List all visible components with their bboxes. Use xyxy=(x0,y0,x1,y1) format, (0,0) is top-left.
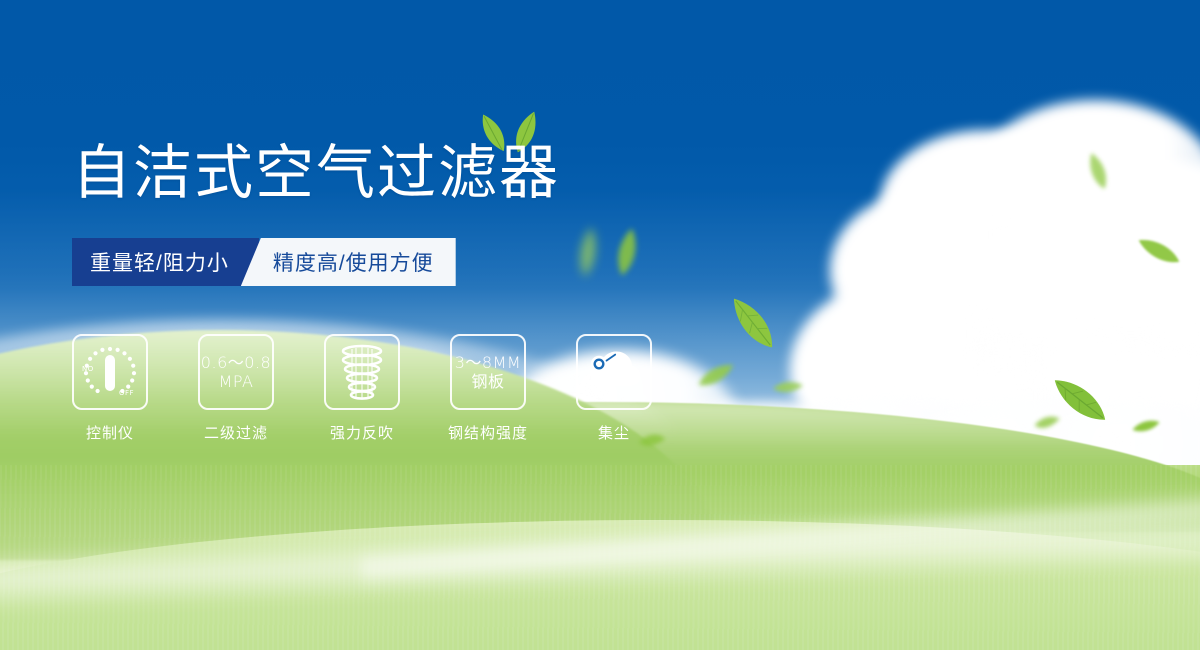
feature-label: 控制仪 xyxy=(86,422,134,443)
feature-icon-box: 3～8MM 钢板 xyxy=(450,334,526,410)
filter-cartridge-icon xyxy=(335,343,389,401)
pressure-value: 0.6～0.8 xyxy=(201,353,271,372)
feature-icon-box: NO OFF xyxy=(72,334,148,410)
feature-item-steel[interactable]: 3～8MM 钢板 钢结构强度 xyxy=(450,334,526,443)
steel-thickness: 3～8MM xyxy=(455,353,521,372)
badge-secondary: 精度高/使用方便 xyxy=(241,238,456,286)
gauge-icon: NO OFF xyxy=(79,343,141,401)
pressure-unit: MPA xyxy=(201,372,271,391)
feature-label: 集尘 xyxy=(598,422,630,443)
tagline-badges: 重量轻/阻力小 精度高/使用方便 xyxy=(72,238,456,286)
badge-secondary-label: 精度高/使用方便 xyxy=(273,247,434,277)
feature-icon-box: Air xyxy=(576,334,652,410)
pressure-text-icon: 0.6～0.8 MPA xyxy=(201,353,271,391)
badge-primary: 重量轻/阻力小 xyxy=(72,238,259,286)
feature-icon-box: 0.6～0.8 MPA xyxy=(198,334,274,410)
air-cloud-icon: Air xyxy=(585,348,643,401)
air-label: Air xyxy=(585,389,643,401)
feature-item-blowback[interactable]: 强力反吹 xyxy=(324,334,400,443)
svg-text:NO: NO xyxy=(82,365,94,373)
feature-label: 钢结构强度 xyxy=(448,422,528,443)
steel-material: 钢板 xyxy=(455,372,521,391)
banner-content: 自洁式空气过滤器 重量轻/阻力小 精度高/使用方便 xyxy=(0,0,1200,650)
svg-text:OFF: OFF xyxy=(119,389,134,397)
product-banner: 自洁式空气过滤器 重量轻/阻力小 精度高/使用方便 xyxy=(0,0,1200,650)
feature-label: 强力反吹 xyxy=(330,422,394,443)
feature-label: 二级过滤 xyxy=(204,422,268,443)
feature-item-dust[interactable]: Air 集尘 xyxy=(576,334,652,443)
feature-item-pressure[interactable]: 0.6～0.8 MPA 二级过滤 xyxy=(198,334,274,443)
feature-item-controller[interactable]: NO OFF 控制仪 xyxy=(72,334,148,443)
feature-icon-box xyxy=(324,334,400,410)
page-title: 自洁式空气过滤器 xyxy=(72,143,560,202)
feature-list: NO OFF 控制仪 0.6～0.8 MPA 二级过滤 xyxy=(72,334,652,443)
steel-plate-text-icon: 3～8MM 钢板 xyxy=(455,353,521,391)
badge-primary-label: 重量轻/阻力小 xyxy=(90,247,229,277)
